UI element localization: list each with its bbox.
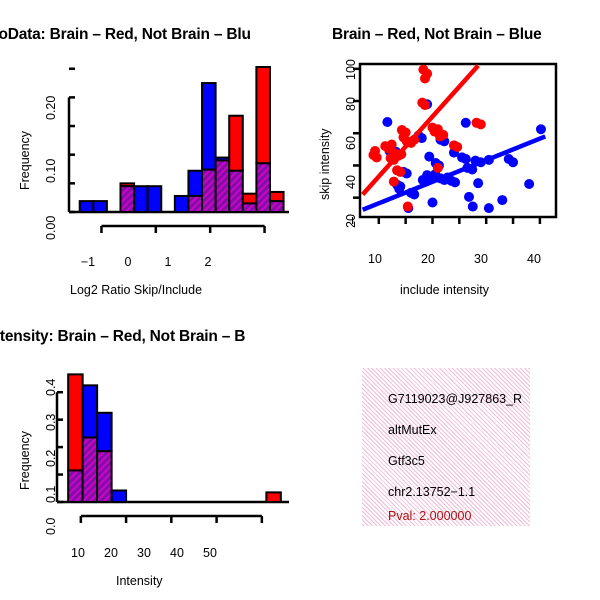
gene-intensity-xlabel: Intensity [116,574,163,588]
scatter-xtick-0: 10 [362,252,388,266]
info-line-gene-symbol: Gtf3c5 [388,454,425,468]
gene-info-box: G7119023@J927863_R altMutEx Gtf3c5 chr2.… [362,368,530,526]
gene-intensity-xtick-3: 40 [164,546,190,560]
gene-intensity-xtick-2: 30 [131,546,157,560]
scatter-xtick-2: 30 [468,252,494,266]
gene-intensity-title: ne Itensity: Brain – Red, Not Brain – B [0,328,245,346]
scatter-title: Brain – Red, Not Brain – Blue [332,26,542,44]
ratio-histogram-xtick-2: 1 [156,255,180,269]
info-line-locus: chr2.13752−1.1 [388,485,475,499]
scatter-plot-area [352,58,562,243]
info-line-probe-id: G7119023@J927863_R [388,392,522,406]
ratio-histogram-xtick-1: 0 [116,255,140,269]
scatter-xlabel: include intensity [400,283,489,297]
ratio-histogram-plot-area [55,55,295,250]
ratio-histogram-title: RatioData: Brain – Red, Not Brain – Blu [0,26,251,44]
gene-intensity-xtick-4: 50 [197,546,223,560]
scatter-xtick-3: 40 [521,252,547,266]
info-line-event-type: altMutEx [388,423,437,437]
info-line-pval: Pval: 2.000000 [388,509,471,523]
gene-intensity-plot-area [55,365,295,540]
gene-intensity-ylabel: Frequency [18,431,32,490]
ratio-histogram-xtick-3: 2 [196,255,220,269]
ratio-histogram-xlabel: Log2 Ratio Skip/Include [70,283,202,297]
ratio-histogram-xtick-0: −1 [76,255,100,269]
scatter-ylabel: skip intensity [318,128,332,200]
gene-intensity-xtick-0: 10 [65,546,91,560]
scatter-xtick-1: 20 [415,252,441,266]
ratio-histogram-ylabel: Frequency [18,131,32,190]
gene-intensity-xtick-1: 20 [98,546,124,560]
